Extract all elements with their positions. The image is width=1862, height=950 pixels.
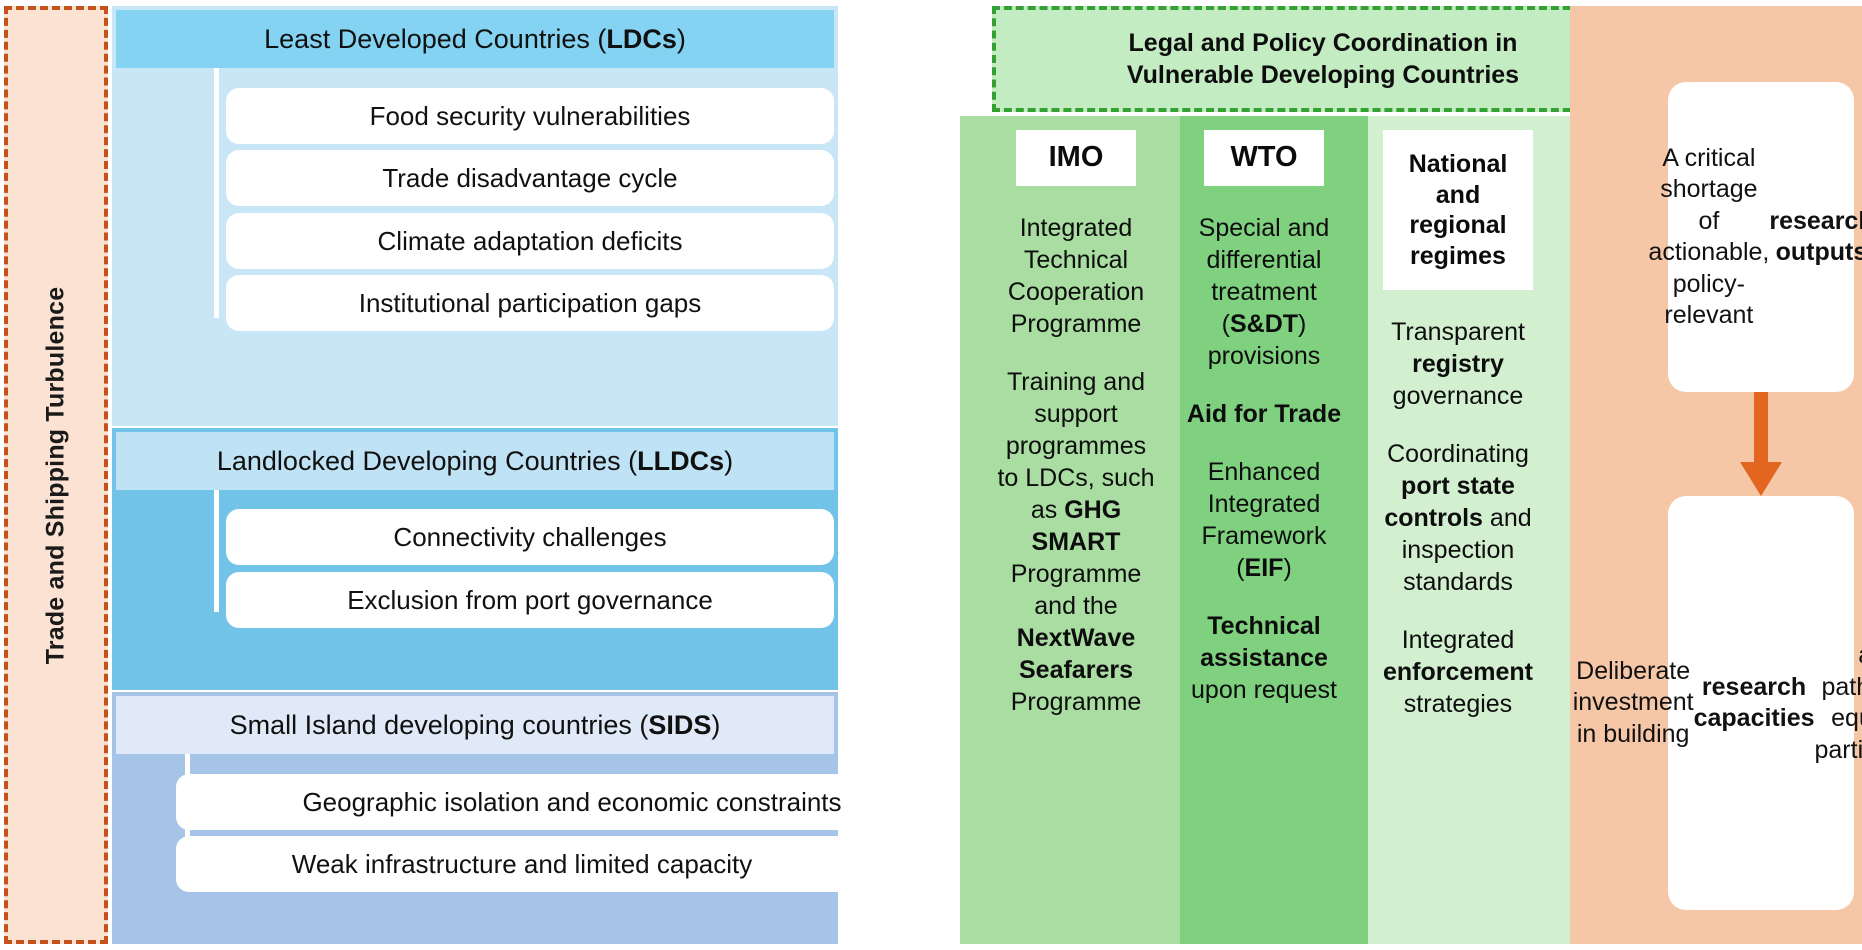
imo-entry-1: Integrated Technical Cooperation Program… [992, 212, 1160, 340]
research-shortage-box: A critical shortage of actionable, polic… [1668, 82, 1854, 392]
list-item[interactable]: Institutional participation gaps [226, 275, 834, 331]
national-entry-1: Transparent registry governance [1368, 316, 1548, 412]
column-national-regional: National and regional regimes Transparen… [1368, 116, 1548, 944]
down-arrow-icon [1740, 462, 1782, 496]
list-item[interactable]: Trade disadvantage cycle [226, 150, 834, 206]
legal-policy-title-line2: Vulnerable Developing Countries [1127, 59, 1519, 92]
national-entry-2: Coordinating port state controls and ins… [1368, 438, 1548, 598]
legal-policy-coordination-title: Legal and Policy Coordination in Vulnera… [992, 6, 1654, 112]
chip-line: and [1409, 180, 1508, 211]
column-imo: IMO Integrated Technical Cooperation Pro… [992, 116, 1160, 944]
legal-policy-title-line1: Legal and Policy Coordination in [1127, 27, 1519, 60]
imo-column-gutter-right [1160, 116, 1180, 944]
trade-shipping-turbulence-band: Trade and Shipping Turbulence [4, 6, 108, 944]
national-entry-3: Integrated enforcement strategies [1368, 624, 1548, 720]
wto-column-gutter-right [1348, 116, 1368, 944]
list-item[interactable]: Exclusion from port governance [226, 572, 834, 628]
group-header-lldc: Landlocked Developing Countries (LLDCs) [116, 432, 834, 490]
national-column-gutter-right [1548, 116, 1570, 944]
trade-shipping-turbulence-label: Trade and Shipping Turbulence [42, 286, 71, 664]
group-header-sids-text: Small Island developing countries (SIDS) [230, 710, 721, 741]
column-wto: WTO Special and differential treatment (… [1180, 116, 1348, 944]
group-header-ldc: Least Developed Countries (LDCs) [116, 10, 834, 68]
connector-spine-ldc [214, 68, 219, 318]
chip-line: National [1409, 149, 1508, 180]
down-arrow-shaft [1754, 392, 1768, 468]
imo-entry-2: Training and support programmes to LDCs,… [992, 366, 1160, 718]
research-capacity-box: Deliberate investment in building resear… [1668, 496, 1854, 910]
diagram-canvas: Trade and Shipping Turbulence Least Deve… [0, 0, 1862, 950]
group-header-ldc-text: Least Developed Countries (LDCs) [264, 24, 686, 55]
list-item[interactable]: Climate adaptation deficits [226, 213, 834, 269]
org-chip-wto[interactable]: WTO [1204, 130, 1324, 186]
wto-entry-4: Technical assistance upon request [1180, 610, 1348, 706]
group-header-lldc-text: Landlocked Developing Countries (LLDCs) [217, 446, 733, 477]
chip-line: regimes [1409, 241, 1508, 272]
org-chip-imo[interactable]: IMO [1016, 130, 1136, 186]
imo-column-gutter-left [960, 116, 992, 944]
wto-entry-1: Special and differential treatment (S&DT… [1180, 212, 1348, 372]
wto-entry-3: Enhanced Integrated Framework (EIF) [1180, 456, 1348, 584]
chip-line: regional [1409, 210, 1508, 241]
connector-spine-lldc [214, 490, 219, 612]
list-item[interactable]: Weak infrastructure and limited capacity [176, 836, 868, 892]
wto-entry-2: Aid for Trade [1180, 398, 1348, 430]
list-item[interactable]: Connectivity challenges [226, 509, 834, 565]
org-chip-national-regional[interactable]: National and regional regimes [1383, 130, 1533, 290]
list-item[interactable]: Food security vulnerabilities [226, 88, 834, 144]
group-header-sids: Small Island developing countries (SIDS) [116, 696, 834, 754]
list-item[interactable]: Geographic isolation and economic constr… [176, 774, 968, 830]
